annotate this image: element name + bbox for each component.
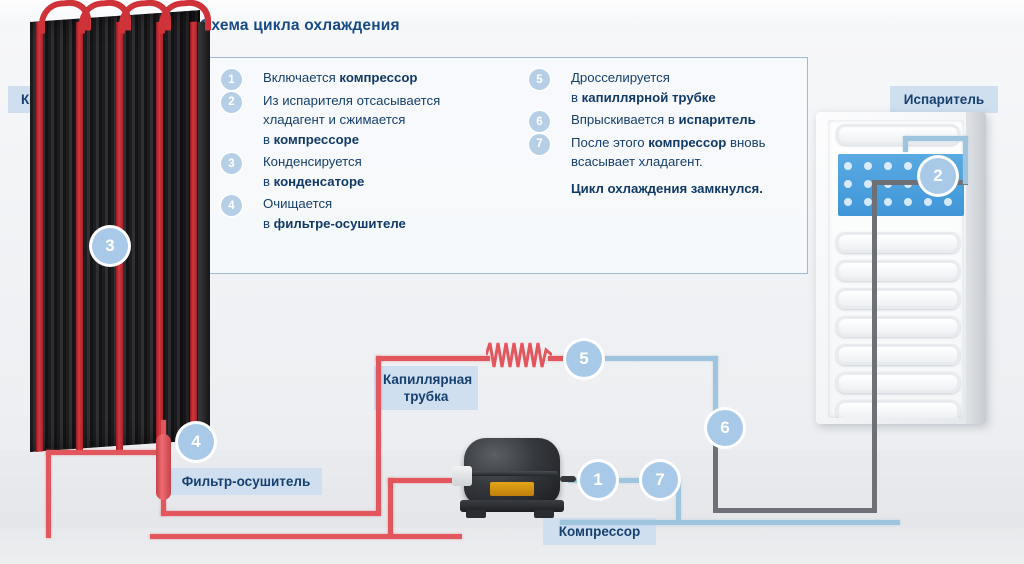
badge-compressor-in: 1 [580, 462, 616, 498]
legend-badge-7: 7 [529, 134, 550, 155]
compressor-unit [452, 438, 570, 520]
condenser-tube [156, 22, 163, 452]
legend-column-right: 5Дросселируетсяв капиллярной трубке6Впры… [523, 68, 795, 198]
pipe-drier-to-right [161, 511, 381, 516]
refrigeration-cycle-diagram: 3 Конденсатор [0, 0, 1024, 564]
evaporator-coil [836, 232, 960, 253]
evaporator-coil [836, 344, 960, 365]
evaporator-coil [836, 372, 960, 393]
pipe-capillary-to-evap [600, 356, 718, 361]
pipe-evap-feed-riser [872, 180, 877, 512]
pipe-suction-bottom [560, 520, 900, 525]
compressor-discharge-stub [560, 476, 576, 482]
pipe-evap-inlet [963, 136, 968, 184]
legend-item-7: 7После этого компрессор вновьвсасывает х… [523, 133, 795, 172]
badge-capillary: 5 [566, 341, 602, 377]
compressor-mount-foot [534, 510, 554, 518]
legend-badge-3: 3 [221, 153, 242, 174]
legend-badge-2: 2 [221, 92, 242, 113]
pipe-evap-feed-lower [713, 444, 718, 512]
pipe-evap-suction-return [903, 136, 908, 152]
legend-item-3-line-2: в конденсаторе [263, 172, 515, 192]
pipe-evap-inlet-top [906, 136, 968, 141]
legend-item-2: 2Из испарителя отсасываетсяхладагент и с… [215, 91, 515, 150]
condenser-tube [190, 22, 197, 452]
pipe-condenser-inlet-riser [46, 450, 51, 538]
legend-item-3: 3Конденсируетсяв конденсаторе [215, 152, 515, 191]
legend-box: 1Включается компрессор2Из испарителя отс… [200, 57, 808, 274]
compressor-weld-seam [466, 471, 558, 476]
evaporator-right-edge [966, 112, 986, 424]
legend-item-7-line-2: всасывает хладагент. [571, 152, 795, 172]
legend-item-6-line-1: Впрыскивается в испаритель [571, 110, 795, 130]
legend-item-7-line-1: После этого компрессор вновь [571, 133, 795, 153]
legend-item-5: 5Дросселируетсяв капиллярной трубке [523, 68, 795, 107]
label-capillary-line1: Капиллярная [383, 372, 472, 387]
legend-item-6: 6Впрыскивается в испаритель [523, 110, 795, 130]
capillary-coil [486, 340, 552, 370]
label-filter-drier: Фильтр-осушитель [170, 468, 322, 495]
pipe-discharge-bottom [150, 534, 462, 539]
condenser-return-bend [159, 0, 211, 34]
legend-item-4-line-2: в фильтре-осушителе [263, 214, 515, 234]
pipe-evap-feed-down [713, 356, 718, 416]
label-capillary-line2: трубка [404, 389, 449, 404]
pipe-condenser-inlet [46, 450, 162, 455]
evaporator-coil [836, 316, 960, 337]
label-evaporator: Испаритель [890, 86, 998, 113]
legend-item-1-line-1: Включается компрессор [263, 68, 515, 88]
badge-evaporator: 2 [920, 158, 956, 194]
evaporator-coil [836, 260, 960, 281]
legend-column-left: 1Включается компрессор2Из испарителя отс… [215, 68, 515, 236]
pipe-capillary-riser [376, 356, 381, 514]
badge-filter-drier: 4 [178, 424, 214, 460]
legend-item-4: 4Очищаетсяв фильтре-осушителе [215, 194, 515, 233]
evaporator-coil [836, 124, 960, 145]
diagram-title: Схема цикла охлаждения [200, 17, 400, 35]
badge-compressor-out: 7 [642, 462, 678, 498]
legend-item-5-line-2: в капиллярной трубке [571, 88, 795, 108]
pipe-discharge-to-compressor [388, 478, 460, 483]
evaporator-coil [836, 400, 960, 418]
legend-item-2-line-1: Из испарителя отсасывается [263, 91, 515, 111]
legend-item-3-line-1: Конденсируется [263, 152, 515, 172]
pipe-discharge-riser [388, 478, 393, 536]
legend-badge-1: 1 [221, 69, 242, 90]
badge-evaporator-feed: 6 [707, 410, 743, 446]
legend-item-5-line-1: Дросселируется [571, 68, 795, 88]
legend-badge-5: 5 [529, 69, 550, 90]
legend-item-4-line-1: Очищается [263, 194, 515, 214]
legend-closing-note: Цикл охлаждения замкнулся. [523, 179, 795, 199]
evaporator-coil [836, 288, 960, 309]
badge-condenser: 3 [92, 228, 128, 264]
legend-badge-6: 6 [529, 111, 550, 132]
legend-item-2-line-3: в компрессоре [263, 130, 515, 150]
legend-item-1: 1Включается компрессор [215, 68, 515, 88]
legend-item-2-line-2: хладагент и сжимается [263, 110, 515, 130]
condenser-side-edge [198, 21, 210, 452]
label-capillary-tube: Капиллярная трубка [374, 366, 478, 410]
compressor-mount-foot [466, 510, 486, 518]
pipe-evap-feed-bottom [713, 508, 877, 513]
compressor-rating-plate [490, 482, 534, 496]
filter-drier-unit [156, 434, 171, 500]
pipe-to-capillary-coil [376, 356, 490, 361]
condenser-tube [76, 22, 83, 452]
evaporator-unit [816, 112, 986, 424]
condenser-tube [36, 22, 43, 452]
compressor-terminal-box [452, 466, 472, 486]
legend-badge-4: 4 [221, 195, 242, 216]
